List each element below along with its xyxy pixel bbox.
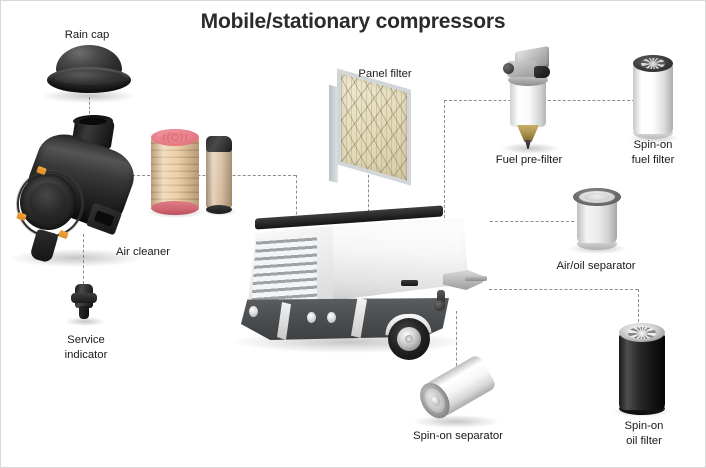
fuel-pre-filter-primer-knob — [503, 63, 514, 74]
rain-cap-skirt — [47, 67, 131, 93]
secondary-element-media — [206, 146, 232, 208]
service-indicator-ring — [71, 293, 97, 303]
air-oil-separator-inner-bore — [584, 193, 610, 201]
connector-oil-filter-run — [489, 289, 638, 290]
panel-filter-frame — [337, 68, 411, 185]
spin-on-separator-group — [414, 353, 500, 426]
fuel-pre-filter-drain-valve — [525, 140, 531, 149]
fuel-pre-filter-water-bowl — [517, 125, 539, 142]
compressor-louvre-grille — [251, 234, 317, 308]
label-panel-filter: Panel filter — [321, 67, 449, 82]
label-spin-on-fuel-filter: Spin-on fuel filter — [598, 138, 706, 167]
spin-on-oil-filter-thread — [636, 330, 648, 337]
compressor-door-latch — [401, 280, 418, 286]
portable-compressor-unit-icon — [229, 206, 485, 356]
spin-on-fuel-filter-can — [633, 64, 673, 134]
connector-oil-filter-down — [638, 289, 639, 327]
label-rain-cap: Rain cap — [32, 28, 142, 43]
spin-on-separator-icon — [419, 369, 495, 421]
air-cleaner-mounting-foot — [29, 229, 58, 264]
compressor-jockey-wheel — [434, 300, 445, 311]
service-indicator-stem — [79, 306, 89, 319]
label-air-oil-separator: Air/oil separator — [522, 259, 670, 274]
spin-on-oil-filter-icon — [619, 323, 665, 415]
panel-filter-icon — [329, 79, 419, 179]
compressor-parts-diagram: Mobile/stationary compressors Rain cap — [0, 0, 706, 468]
rain-cap-icon — [47, 45, 131, 97]
connector-air-oil-separator — [490, 221, 574, 222]
label-air-cleaner: Air cleaner — [79, 245, 207, 260]
compressor-panel-fastener — [307, 312, 316, 323]
fuel-pre-filter-icon — [501, 49, 557, 149]
compressor-panel-fastener — [327, 312, 336, 323]
air-oil-separator-icon — [573, 188, 621, 250]
primary-air-filter-element-icon — [151, 129, 199, 215]
spin-on-oil-filter-can — [619, 334, 665, 410]
primary-element-bottom-seal — [151, 201, 199, 215]
primary-element-top-cap — [151, 129, 199, 146]
secondary-element-top-cap — [206, 136, 232, 152]
label-service-indicator: Service indicator — [29, 333, 143, 362]
label-spin-on-oil-filter: Spin-on oil filter — [589, 419, 699, 448]
compressor-canopy-side — [317, 218, 469, 302]
panel-filter-mesh — [341, 74, 407, 181]
safety-air-filter-element-icon — [206, 136, 232, 214]
compressor-panel-fastener — [249, 306, 258, 317]
primary-element-media — [151, 137, 199, 209]
compressor-tow-bar — [465, 276, 487, 281]
fuel-pre-filter-body — [510, 79, 546, 127]
fuel-pre-filter-lever — [534, 66, 550, 78]
label-fuel-pre-filter: Fuel pre-filter — [472, 153, 586, 168]
label-spin-on-separator: Spin-on separator — [378, 429, 538, 444]
air-cleaner-housing-icon — [13, 119, 143, 264]
compressor-hub-nut — [405, 335, 413, 343]
spin-on-fuel-filter-icon — [633, 55, 673, 139]
service-indicator-icon — [71, 284, 97, 324]
